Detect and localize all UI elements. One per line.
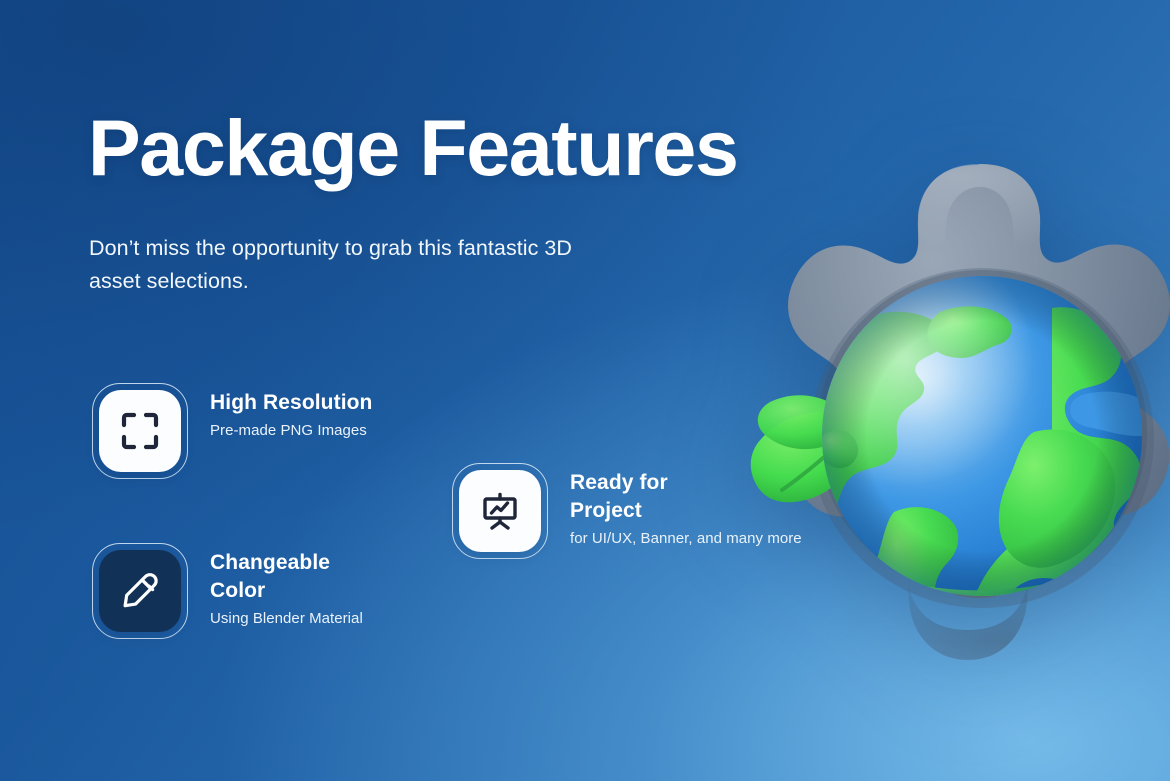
feature-text-changeable-color: Changeable Color Using Blender Material xyxy=(210,543,390,629)
page-subtitle: Don’t miss the opportunity to grab this … xyxy=(89,232,609,297)
feature-description: Pre-made PNG Images xyxy=(210,421,373,441)
feature-title: High Resolution xyxy=(210,389,373,417)
feature-description: Using Blender Material xyxy=(210,609,390,629)
feature-text-ready-for-project: Ready for Project for UI/UX, Banner, and… xyxy=(570,463,802,549)
feature-icon-card-changeable-color xyxy=(92,543,188,639)
feature-item-changeable-color: Changeable Color Using Blender Material xyxy=(92,543,390,639)
fullscreen-expand-icon xyxy=(120,411,160,451)
eyedropper-icon xyxy=(119,570,161,612)
feature-icon-card-high-resolution xyxy=(92,383,188,479)
page-title: Package Features xyxy=(88,108,738,187)
feature-item-ready-for-project: Ready for Project for UI/UX, Banner, and… xyxy=(452,463,802,559)
feature-item-high-resolution: High Resolution Pre-made PNG Images xyxy=(92,383,373,479)
feature-icon-card-ready-for-project xyxy=(452,463,548,559)
feature-text-high-resolution: High Resolution Pre-made PNG Images xyxy=(210,383,373,441)
presentation-chart-icon xyxy=(480,491,520,531)
feature-description: for UI/UX, Banner, and many more xyxy=(570,529,802,549)
feature-title: Changeable Color xyxy=(210,549,390,605)
feature-title: Ready for Project xyxy=(570,469,730,525)
gear-globe-illustration xyxy=(734,146,1170,736)
poster-background: Package Features Don’t miss the opportun… xyxy=(0,0,1170,781)
